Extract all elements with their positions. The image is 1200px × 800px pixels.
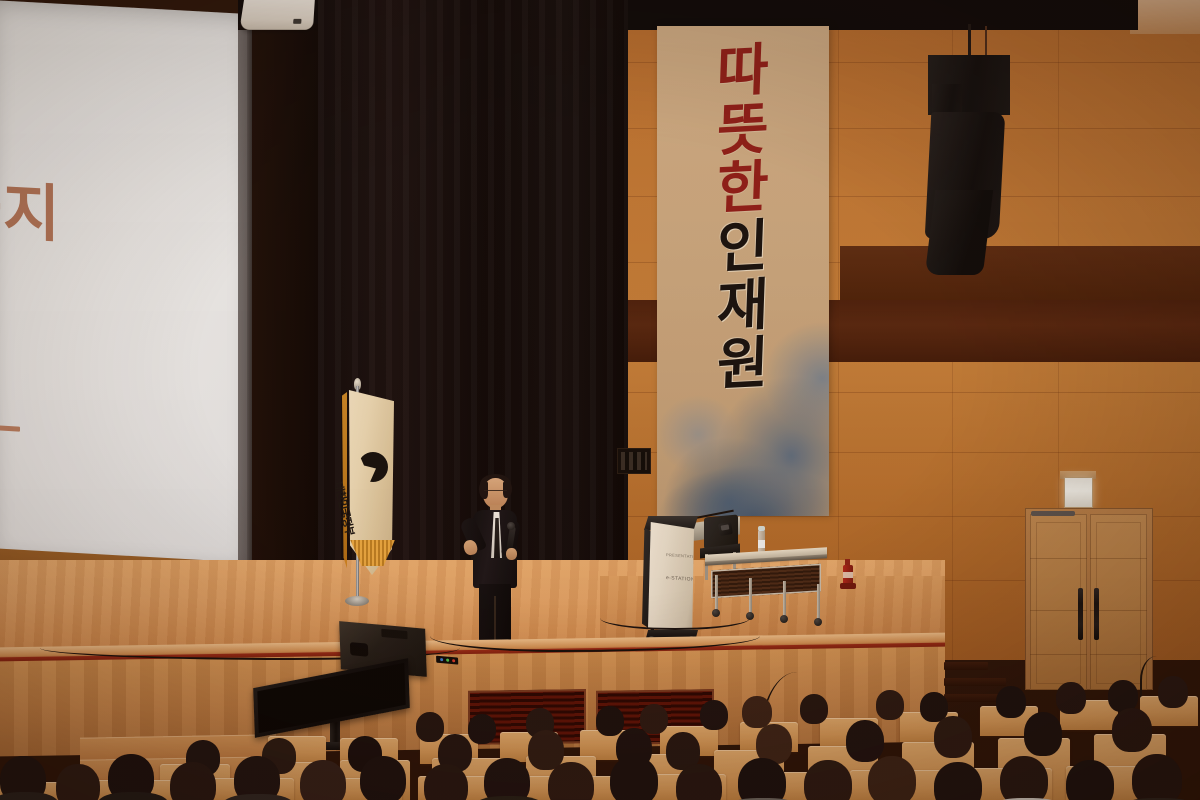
auditorium-photo: 가지 따 뜻 한 인 재 원 xyxy=(0,0,1200,800)
lens-vignette xyxy=(0,0,1200,800)
